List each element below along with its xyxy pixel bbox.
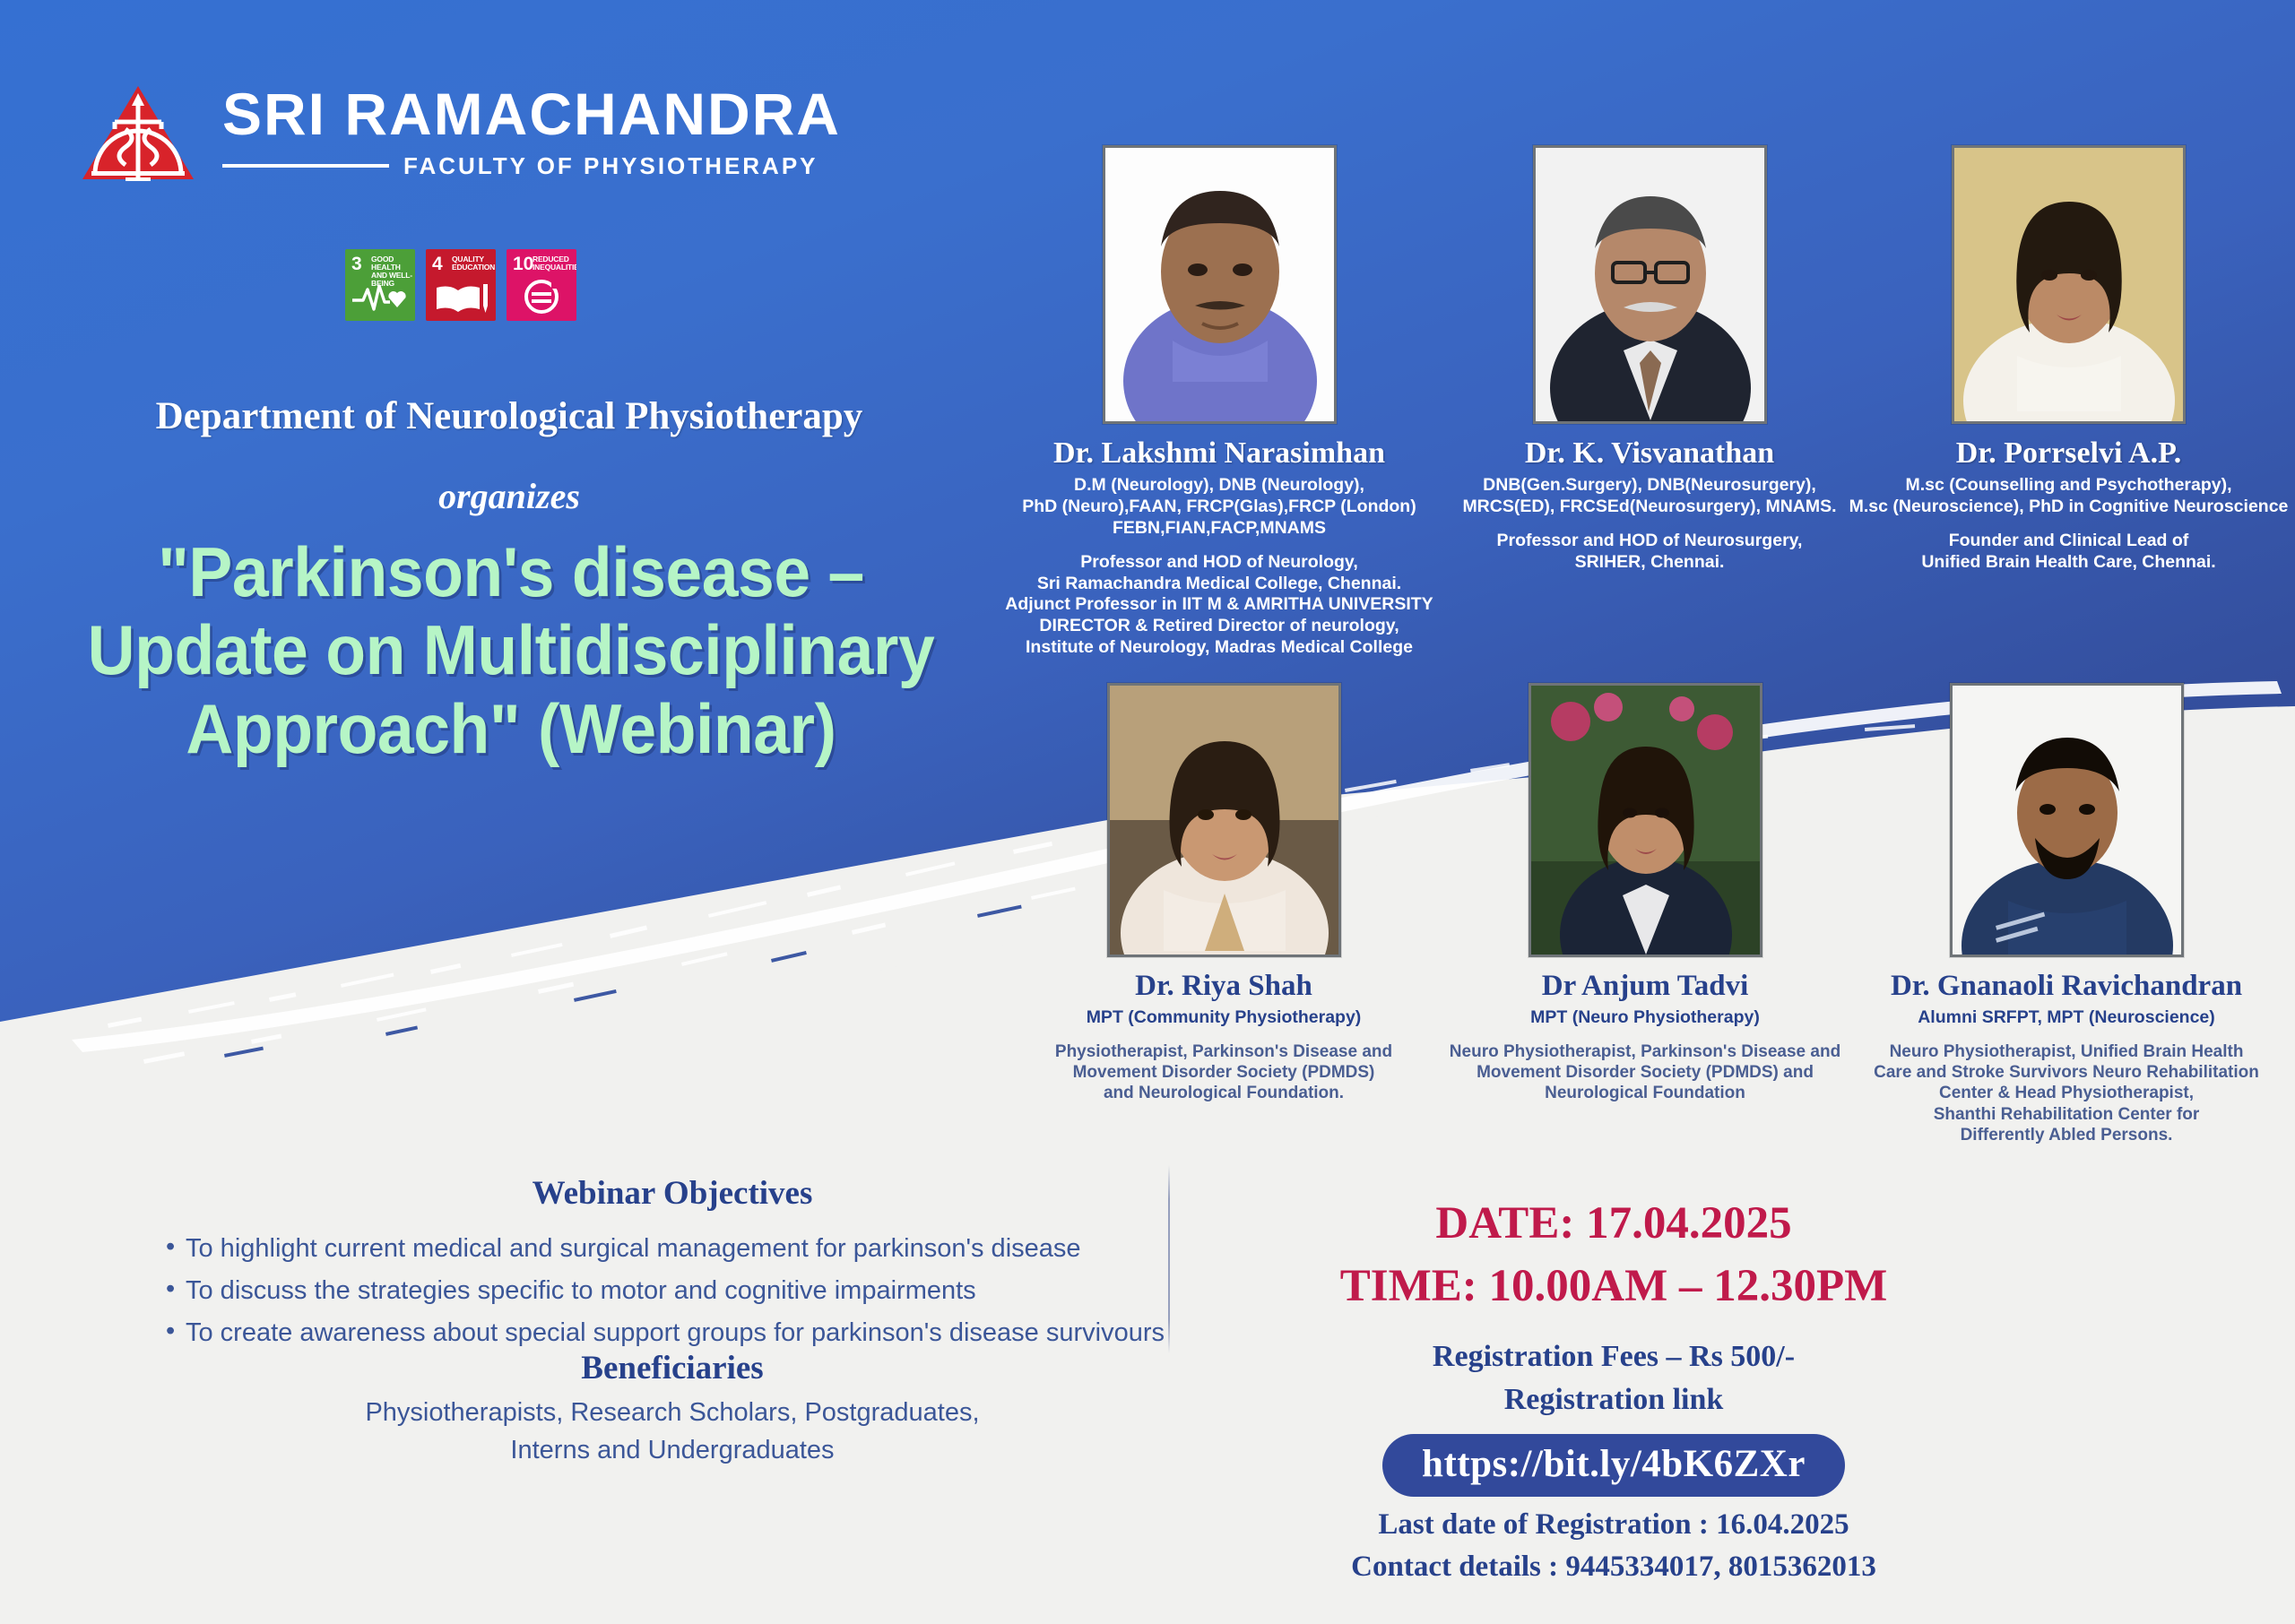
affiliation-line: Unified Brain Health Care, Chennai. — [1842, 552, 2295, 574]
speaker-affiliation: Professor and HOD of Neurosurgery, SRIHE… — [1425, 531, 1874, 574]
speaker-name: Dr. Lakshmi Narasimhan — [986, 436, 1452, 470]
speaker-photo — [1103, 145, 1337, 424]
organizes-label: organizes — [133, 475, 886, 517]
last-registration-date: Last date of Registration : 16.04.2025 — [1219, 1504, 2008, 1546]
affiliation-line: Differently Abled Persons. — [1838, 1125, 2295, 1145]
speaker-degrees: D.M (Neurology), DNB (Neurology), PhD (N… — [986, 475, 1452, 539]
speaker-photo — [1533, 145, 1767, 424]
speaker-affiliation: Professor and HOD of Neurology, Sri Rama… — [986, 552, 1452, 659]
beneficiary-line: Interns and Undergraduates — [206, 1431, 1139, 1469]
speaker-photo — [1950, 683, 2184, 957]
registration-fees: Registration Fees – Rs 500/- — [1219, 1335, 2008, 1378]
section-divider — [1168, 1165, 1170, 1353]
speaker-name: Dr. Gnanaoli Ravichandran — [1838, 970, 2295, 1002]
speaker-photo — [1952, 145, 2186, 424]
speaker-degrees: MPT (Community Physiotherapy) — [995, 1007, 1452, 1029]
speaker-degrees: MPT (Neuro Physiotherapy) — [1421, 1007, 1869, 1029]
affiliation-line: Neuro Physiotherapist, Parkinson's Disea… — [1421, 1041, 1869, 1062]
sdg-3-good-health-icon: 3 GOOD HEALTH AND WELL-BEING — [345, 249, 415, 321]
degree-line: MPT (Neuro Physiotherapy) — [1421, 1007, 1869, 1029]
registration-link-label: Registration link — [1219, 1378, 2008, 1421]
contact-details: Contact details : 9445334017, 8015362013 — [1219, 1546, 2008, 1588]
degree-line: DNB(Gen.Surgery), DNB(Neurosurgery), — [1425, 475, 1874, 497]
brand-logo: SRI RAMACHANDRA FACULTY OF PHYSIOTHERAPY — [79, 79, 841, 185]
affiliation-line: Neurological Foundation — [1421, 1083, 1869, 1103]
degree-line: M.sc (Counselling and Psychotherapy), — [1842, 475, 2295, 497]
degree-line: D.M (Neurology), DNB (Neurology), — [986, 475, 1452, 497]
event-date: DATE: 17.04.2025 — [1219, 1192, 2008, 1255]
sdg-number: 4 — [432, 255, 443, 273]
speaker-affiliation: Founder and Clinical Lead of Unified Bra… — [1842, 531, 2295, 574]
list-item: •To highlight current medical and surgic… — [166, 1228, 1179, 1270]
affiliation-line: Movement Disorder Society (PDMDS) — [995, 1062, 1452, 1083]
affiliation-line: Physiotherapist, Parkinson's Disease and — [995, 1041, 1452, 1062]
speaker-card: Dr. Porrselvi A.P. M.sc (Counselling and… — [1842, 145, 2295, 574]
sdg-10-reduced-inequalities-icon: 10 REDUCED INEQUALITIES — [507, 249, 576, 321]
speaker-name: Dr. Riya Shah — [995, 970, 1452, 1002]
beneficiaries-body: Physiotherapists, Research Scholars, Pos… — [206, 1394, 1139, 1469]
affiliation-line: Movement Disorder Society (PDMDS) and — [1421, 1062, 1869, 1083]
speaker-photo — [1107, 683, 1341, 957]
logo-divider-rule — [222, 164, 389, 168]
speaker-affiliation: Physiotherapist, Parkinson's Disease and… — [995, 1041, 1452, 1104]
affiliation-line: Center & Head Physiotherapist, — [1838, 1083, 2295, 1103]
title-line-3: Approach" (Webinar) — [48, 690, 974, 768]
beneficiary-line: Physiotherapists, Research Scholars, Pos… — [206, 1394, 1139, 1431]
sdg-4-quality-education-icon: 4 QUALITY EDUCATION — [426, 249, 496, 321]
speaker-name: Dr. K. Visvanathan — [1425, 436, 1874, 470]
affiliation-line: DIRECTOR & Retired Director of neurology… — [986, 616, 1452, 637]
speaker-degrees: M.sc (Counselling and Psychotherapy), M.… — [1842, 475, 2295, 518]
affiliation-line: Sri Ramachandra Medical College, Chennai… — [986, 574, 1452, 595]
sdg-icon-row: 3 GOOD HEALTH AND WELL-BEING 4 QUALITY E… — [345, 249, 576, 321]
speaker-card: Dr. Gnanaoli Ravichandran Alumni SRFPT, … — [1838, 683, 2295, 1145]
degree-line: PhD (Neuro),FAAN, FRCP(Glas),FRCP (Londo… — [986, 497, 1452, 518]
speaker-card: Dr. Lakshmi Narasimhan D.M (Neurology), … — [986, 145, 1452, 659]
sdg-label: REDUCED INEQUALITIES — [533, 255, 574, 272]
speaker-affiliation: Neuro Physiotherapist, Parkinson's Disea… — [1421, 1041, 1869, 1104]
contact-block: Last date of Registration : 16.04.2025 C… — [1219, 1504, 2008, 1588]
objectives-heading: Webinar Objectives — [260, 1174, 1085, 1213]
affiliation-line: SRIHER, Chennai. — [1425, 552, 1874, 574]
objectives-list: •To highlight current medical and surgic… — [166, 1228, 1179, 1354]
registration-link-wrapper: https://bit.ly/4bK6ZXr — [1219, 1434, 2008, 1497]
bullet-icon: • — [166, 1310, 175, 1352]
title-line-1: "Parkinson's disease – — [48, 533, 974, 611]
degree-line: Alumni SRFPT, MPT (Neuroscience) — [1838, 1007, 2295, 1029]
degree-line: M.sc (Neuroscience), PhD in Cognitive Ne… — [1842, 497, 2295, 518]
page-title: "Parkinson's disease – Update on Multidi… — [48, 533, 974, 768]
registration-url-button[interactable]: https://bit.ly/4bK6ZXr — [1382, 1434, 1845, 1497]
webinar-poster: SRI RAMACHANDRA FACULTY OF PHYSIOTHERAPY… — [0, 0, 2295, 1624]
bullet-icon: • — [166, 1268, 175, 1310]
sdg-label: QUALITY EDUCATION — [452, 255, 493, 272]
affiliation-line: Institute of Neurology, Madras Medical C… — [986, 637, 1452, 659]
degree-line: FEBN,FIAN,FACP,MNAMS — [986, 518, 1452, 540]
brand-name: SRI RAMACHANDRA — [222, 84, 841, 143]
affiliation-line: Care and Stroke Survivors Neuro Rehabili… — [1838, 1062, 2295, 1083]
speaker-card: Dr. K. Visvanathan DNB(Gen.Surgery), DNB… — [1425, 145, 1874, 574]
speaker-degrees: Alumni SRFPT, MPT (Neuroscience) — [1838, 1007, 2295, 1029]
affiliation-line: Founder and Clinical Lead of — [1842, 531, 2295, 552]
speaker-affiliation: Neuro Physiotherapist, Unified Brain Hea… — [1838, 1041, 2295, 1145]
degree-line: MPT (Community Physiotherapy) — [995, 1007, 1452, 1029]
event-time: TIME: 10.00AM – 12.30PM — [1219, 1255, 2008, 1317]
affiliation-line: Shanthi Rehabilitation Center for — [1838, 1104, 2295, 1125]
bullet-icon: • — [166, 1226, 175, 1268]
speaker-photo — [1529, 683, 1762, 957]
affiliation-line: and Neurological Foundation. — [995, 1083, 1452, 1103]
sdg-number: 3 — [351, 255, 362, 273]
brand-faculty: FACULTY OF PHYSIOTHERAPY — [403, 152, 818, 180]
speaker-card: Dr. Riya Shah MPT (Community Physiothera… — [995, 683, 1452, 1104]
title-line-2: Update on Multidisciplinary — [48, 611, 974, 689]
speaker-degrees: DNB(Gen.Surgery), DNB(Neurosurgery), MRC… — [1425, 475, 1874, 518]
event-datetime: DATE: 17.04.2025 TIME: 10.00AM – 12.30PM — [1219, 1192, 2008, 1318]
affiliation-line: Neuro Physiotherapist, Unified Brain Hea… — [1838, 1041, 2295, 1062]
speaker-card: Dr Anjum Tadvi MPT (Neuro Physiotherapy)… — [1421, 683, 1869, 1104]
degree-line: MRCS(ED), FRCSEd(Neurosurgery), MNAMS. — [1425, 497, 1874, 518]
registration-fees-block: Registration Fees – Rs 500/- Registratio… — [1219, 1335, 2008, 1421]
sdg-number: 10 — [513, 255, 533, 273]
beneficiaries-heading: Beneficiaries — [260, 1349, 1085, 1387]
department-title: Department of Neurological Physiotherapy — [133, 394, 886, 438]
speaker-name: Dr. Porrselvi A.P. — [1842, 436, 2295, 470]
caduceus-triangle-logo-icon — [79, 79, 197, 185]
affiliation-line: Professor and HOD of Neurosurgery, — [1425, 531, 1874, 552]
list-item: •To create awareness about special suppo… — [166, 1312, 1179, 1354]
affiliation-line: Professor and HOD of Neurology, — [986, 552, 1452, 574]
list-item: •To discuss the strategies specific to m… — [166, 1270, 1179, 1312]
affiliation-line: Adjunct Professor in IIT M & AMRITHA UNI… — [986, 594, 1452, 616]
speaker-name: Dr Anjum Tadvi — [1421, 970, 1869, 1002]
